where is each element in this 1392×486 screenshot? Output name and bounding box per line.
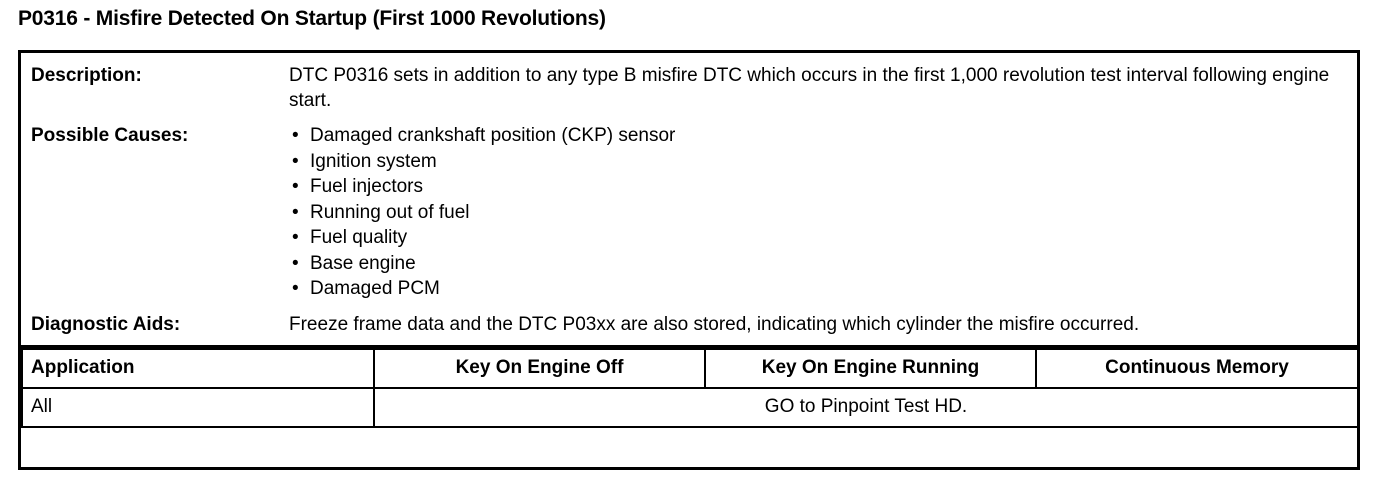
cell-application: All: [22, 388, 374, 427]
bullet-icon: •: [292, 276, 299, 302]
list-item-label: Running out of fuel: [310, 202, 470, 223]
column-header-continuous-memory: Continuous Memory: [1036, 349, 1358, 388]
possible-causes-list: • Damaged crankshaft position (CKP) sens…: [289, 123, 1343, 302]
list-item-label: Fuel injectors: [310, 176, 423, 197]
possible-causes-value: • Damaged crankshaft position (CKP) sens…: [289, 123, 1357, 302]
description-row: Description: DTC P0316 sets in addition …: [21, 53, 1357, 113]
column-header-key-on-engine-off: Key On Engine Off: [374, 349, 705, 388]
bullet-icon: •: [292, 225, 299, 251]
list-item-label: Fuel quality: [310, 227, 407, 248]
page-title: P0316 - Misfire Detected On Startup (Fir…: [18, 6, 606, 32]
list-item: • Running out of fuel: [289, 200, 1343, 226]
bullet-icon: •: [292, 123, 299, 149]
description-text: DTC P0316 sets in addition to any type B…: [289, 63, 1343, 113]
possible-causes-label: Possible Causes:: [21, 123, 289, 148]
list-item: • Fuel quality: [289, 225, 1343, 251]
diagnostic-aids-text: Freeze frame data and the DTC P03xx are …: [289, 312, 1343, 337]
application-table: Application Key On Engine Off Key On Eng…: [21, 348, 1359, 428]
bullet-icon: •: [292, 200, 299, 226]
list-item-label: Damaged PCM: [310, 278, 440, 299]
description-label: Description:: [21, 63, 289, 88]
list-item: • Damaged PCM: [289, 276, 1343, 302]
list-item: • Fuel injectors: [289, 174, 1343, 200]
dtc-reference-page: P0316 - Misfire Detected On Startup (Fir…: [0, 0, 1392, 486]
bullet-icon: •: [292, 174, 299, 200]
list-item: • Base engine: [289, 251, 1343, 277]
column-header-application: Application: [22, 349, 374, 388]
table-row: All GO to Pinpoint Test HD.: [22, 388, 1358, 427]
diagnostic-aids-label: Diagnostic Aids:: [21, 312, 289, 337]
list-item: • Ignition system: [289, 149, 1343, 175]
bullet-icon: •: [292, 149, 299, 175]
dtc-detail-frame: Description: DTC P0316 sets in addition …: [18, 50, 1360, 470]
description-value: DTC P0316 sets in addition to any type B…: [289, 63, 1357, 113]
table-header-row: Application Key On Engine Off Key On Eng…: [22, 349, 1358, 388]
cell-action: GO to Pinpoint Test HD.: [374, 388, 1358, 427]
list-item-label: Base engine: [310, 253, 416, 274]
definition-block: Description: DTC P0316 sets in addition …: [21, 53, 1357, 343]
diagnostic-aids-row: Diagnostic Aids: Freeze frame data and t…: [21, 302, 1357, 343]
bullet-icon: •: [292, 251, 299, 277]
column-header-key-on-engine-running: Key On Engine Running: [705, 349, 1036, 388]
list-item: • Damaged crankshaft position (CKP) sens…: [289, 123, 1343, 149]
diagnostic-aids-value: Freeze frame data and the DTC P03xx are …: [289, 312, 1357, 337]
list-item-label: Damaged crankshaft position (CKP) sensor: [310, 125, 675, 146]
possible-causes-row: Possible Causes: • Damaged crankshaft po…: [21, 113, 1357, 302]
list-item-label: Ignition system: [310, 151, 437, 172]
